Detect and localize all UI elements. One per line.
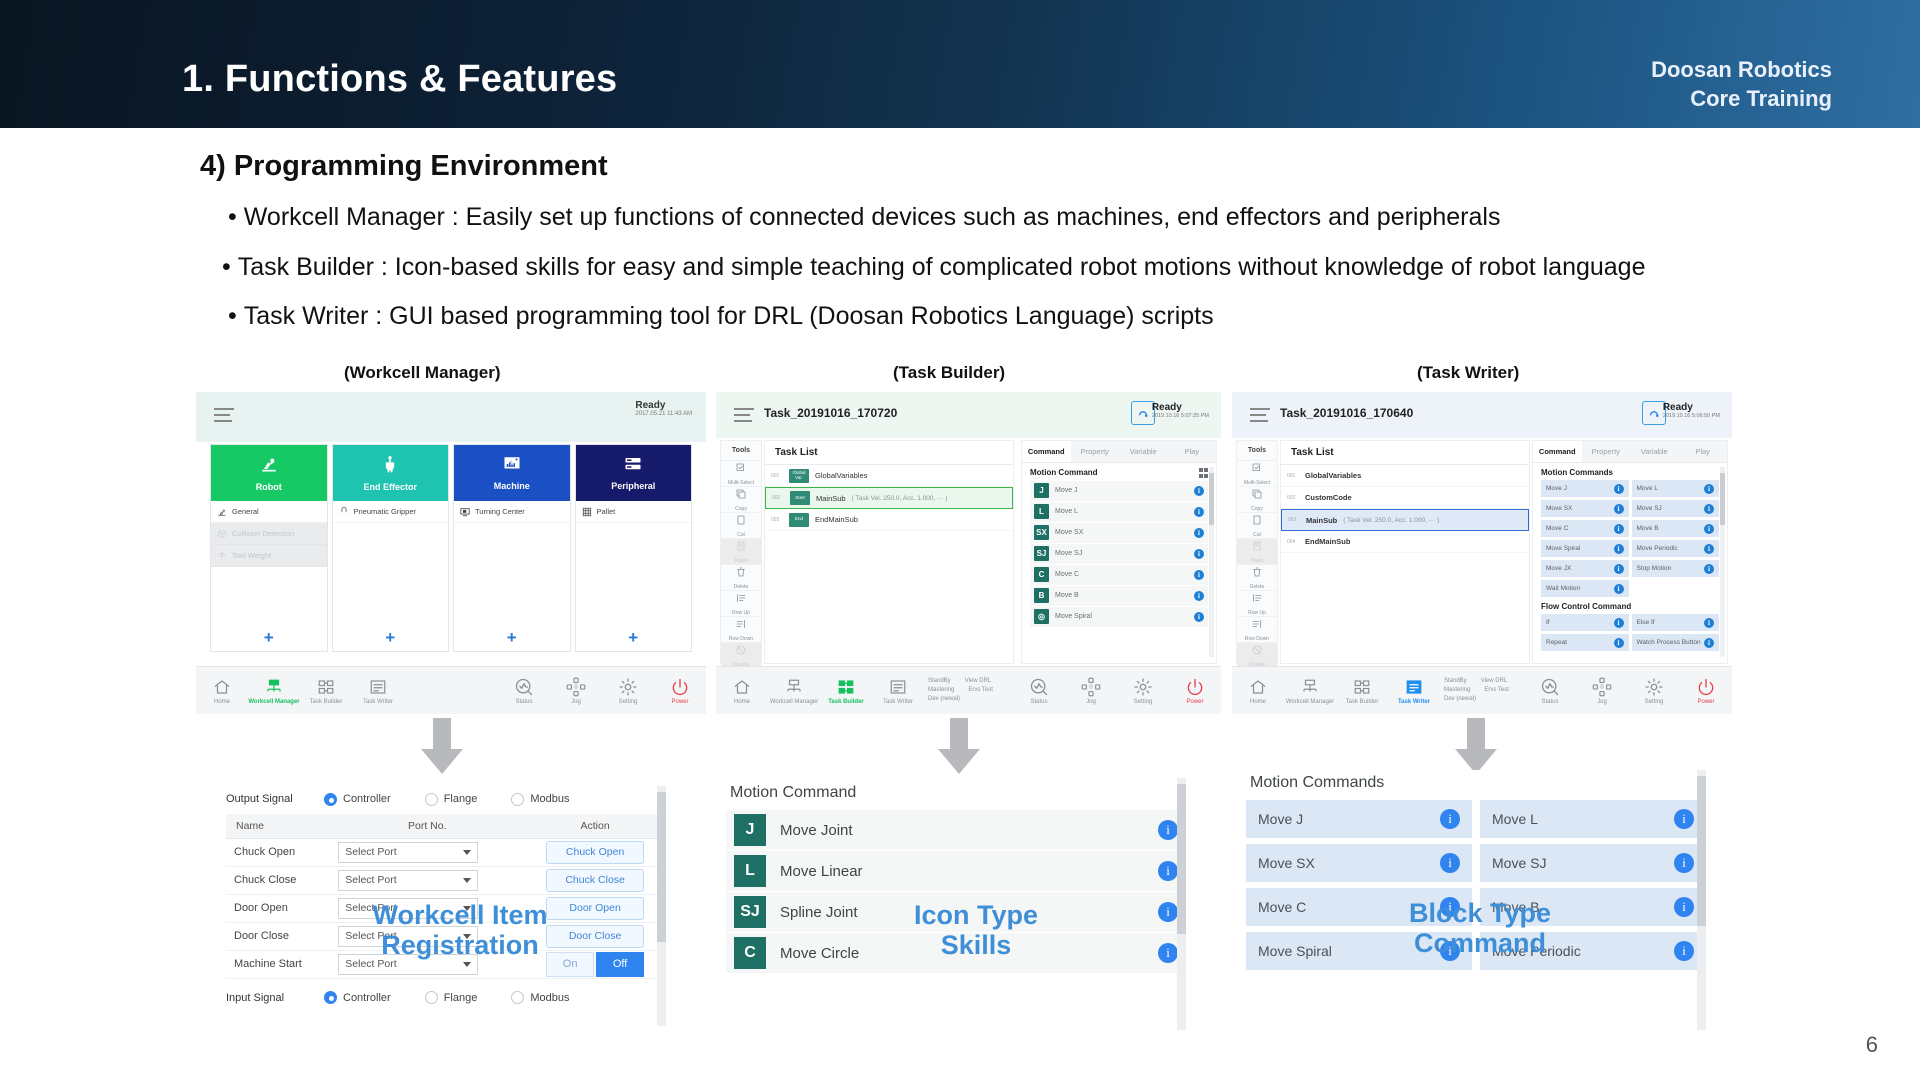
card-header: End Effector xyxy=(333,445,449,501)
radio-flange[interactable]: Flange xyxy=(425,991,478,1004)
wm-card-peripheral[interactable]: Peripheral Pallet + xyxy=(575,444,693,652)
tb-task-list: Task List 001 Global Var. GlobalVariable… xyxy=(764,440,1014,664)
block-command-cell[interactable]: Move C i xyxy=(1541,520,1629,537)
command-glyph-icon: L xyxy=(1034,504,1049,519)
nav-home[interactable]: Home xyxy=(716,677,768,705)
info-icon[interactable]: i xyxy=(1674,941,1694,961)
block-command-cell[interactable]: Move SJ i xyxy=(1480,844,1706,882)
nav-label: Power xyxy=(1697,699,1714,705)
block-command-cell[interactable]: Repeat i xyxy=(1541,634,1629,651)
info-icon[interactable]: i xyxy=(1158,820,1178,840)
tab-play[interactable]: Play xyxy=(1168,441,1217,462)
command-row[interactable]: J Move J i xyxy=(1030,481,1208,501)
status-timestamp: 2017.05.21 11:43 AM xyxy=(635,411,692,417)
block-command-cell[interactable]: Move SJ i xyxy=(1632,500,1720,517)
block-command-cell[interactable]: Move Spiral i xyxy=(1541,540,1629,557)
nav-power[interactable]: Power xyxy=(654,677,706,705)
header-banner: 1. Functions & Features Doosan Robotics … xyxy=(0,0,1920,128)
tw-tools-column: Tools Multi-Select Copy Cut Paste Delete… xyxy=(1236,440,1278,664)
command-row[interactable]: B Move B i xyxy=(1030,586,1208,606)
row-name: Machine Start xyxy=(226,950,330,978)
tab-property[interactable]: Property xyxy=(1071,441,1120,462)
command-row[interactable]: C Move C i xyxy=(1030,565,1208,585)
nav-standby[interactable]: StandBy xyxy=(1444,677,1467,686)
block-command-cell[interactable]: Watch Process Button i xyxy=(1632,634,1720,651)
action-button[interactable]: Chuck Open xyxy=(546,841,644,864)
row-down-icon xyxy=(1251,617,1263,635)
nav-mastering[interactable]: Mastering xyxy=(928,686,954,695)
card-item-label: General xyxy=(232,507,259,516)
port-select[interactable]: Select Port xyxy=(338,842,478,863)
info-icon[interactable]: i xyxy=(1704,564,1714,574)
card-header: Machine xyxy=(454,445,570,501)
block-command-cell[interactable]: Move SX i xyxy=(1246,844,1472,882)
chevron-down-icon xyxy=(463,850,471,855)
add-item-button[interactable]: + xyxy=(211,625,327,651)
row-down-icon xyxy=(735,617,747,635)
tool-label: Cut xyxy=(1253,532,1261,538)
tool-cut[interactable]: Cut xyxy=(1237,513,1277,539)
block-command-cell[interactable]: Move JX i xyxy=(1541,560,1629,577)
info-icon[interactable]: i xyxy=(1440,809,1460,829)
task-builder-icon xyxy=(315,677,337,697)
tool-label: Cut xyxy=(737,532,745,538)
tab-property[interactable]: Property xyxy=(1582,441,1631,462)
row-label: GlobalVariables xyxy=(1305,471,1361,480)
nav-label: Home xyxy=(1250,699,1266,705)
wm-card-robot[interactable]: Robot GeneralCollision DetectionTool Wei… xyxy=(210,444,328,652)
nav-task-builder[interactable]: Task Builder xyxy=(1336,677,1388,705)
block-command-cell[interactable]: Move J i xyxy=(1246,800,1472,838)
block-command-label: Move JX xyxy=(1546,565,1571,572)
block-command-label: Watch Process Button xyxy=(1637,639,1701,646)
tw-navbar: Home Workcell Manager Task Builder Task … xyxy=(1232,666,1732,714)
block-command-cell[interactable]: Move B i xyxy=(1632,520,1720,537)
tab-command[interactable]: Command xyxy=(1533,441,1582,462)
tb-motion-section: Motion Command xyxy=(1022,463,1216,481)
tab-variable[interactable]: Variable xyxy=(1630,441,1679,462)
tb-header: Task_20191016_170720 Ready 2019.10.16 5:… xyxy=(716,392,1221,438)
nav-label: Setting xyxy=(1134,699,1153,705)
disable-icon xyxy=(735,643,747,661)
info-icon[interactable]: i xyxy=(1194,591,1204,601)
page-title: 1. Functions & Features xyxy=(182,58,617,101)
home-icon xyxy=(731,677,753,697)
card-item-label: Collision Detection xyxy=(232,529,294,538)
info-icon[interactable]: i xyxy=(1614,638,1624,648)
block-command-label: Move Spiral xyxy=(1546,545,1580,552)
card-title: Machine xyxy=(494,481,530,491)
tool-delete[interactable]: Delete xyxy=(1237,565,1277,591)
action-button[interactable]: Chuck Close xyxy=(546,869,644,892)
tool-label: Row Up xyxy=(732,610,750,616)
down-arrow-icon-3 xyxy=(1455,718,1497,774)
radio-label: Controller xyxy=(343,793,391,805)
info-icon[interactable]: i xyxy=(1440,853,1460,873)
tab-play[interactable]: Play xyxy=(1679,441,1728,462)
chevron-down-icon xyxy=(463,878,471,883)
screenshot-task-writer: Task_20191016_170640 Ready 2019.10.16 5:… xyxy=(1232,392,1732,714)
tool-multi-select[interactable]: Multi-Select xyxy=(1237,461,1277,487)
tool-cut[interactable]: Cut xyxy=(721,513,761,539)
tool-row-up[interactable]: Row Up xyxy=(1237,591,1277,617)
nav-label: Status xyxy=(515,699,532,705)
jog-icon: 0 xyxy=(1591,677,1613,697)
card-item-label: Pneumatic Gripper xyxy=(354,507,417,516)
tool-label: Paste xyxy=(735,558,748,564)
nav-setting[interactable]: Setting xyxy=(1628,677,1680,705)
skill-label: Move Joint xyxy=(780,822,1144,839)
nav-ervs-test[interactable]: Ervs Test xyxy=(968,686,993,695)
nav-standby[interactable]: StandBy xyxy=(928,677,951,686)
info-icon[interactable]: i xyxy=(1194,507,1204,517)
card-item-row[interactable]: Collision Detection xyxy=(211,523,327,545)
row-number: 003 xyxy=(771,517,783,523)
card-item-label: Pallet xyxy=(597,507,616,516)
nav-power[interactable]: Power xyxy=(1680,677,1732,705)
nav-workcell-manager[interactable]: Workcell Manager xyxy=(1284,677,1336,705)
annotation-line-1: Icon Type xyxy=(876,900,1076,930)
task-name: Task_20191016_170720 xyxy=(764,406,897,420)
tb-navbar: Home Workcell Manager Task Builder Task … xyxy=(716,666,1221,714)
annotation-block-type-command: Block Type Command xyxy=(1370,898,1590,958)
command-label: Move B xyxy=(1055,592,1188,599)
annotation-workcell-item-registration: Workcell Item Registration xyxy=(340,900,580,960)
status-icon xyxy=(1539,677,1561,697)
tool-row-up[interactable]: Row Up xyxy=(721,591,761,617)
weight-icon xyxy=(217,551,227,561)
block-command-cell[interactable]: Stop Motion i xyxy=(1632,560,1720,577)
task-writer-icon xyxy=(1403,677,1425,697)
info-icon[interactable]: i xyxy=(1614,484,1624,494)
nav-status[interactable]: Status xyxy=(1524,677,1576,705)
grid-view-icon[interactable] xyxy=(1199,468,1209,478)
info-icon[interactable]: i xyxy=(1158,902,1178,922)
tab-variable[interactable]: Variable xyxy=(1119,441,1168,462)
tool-copy[interactable]: Copy xyxy=(1237,487,1277,513)
nav-task-builder[interactable]: Task Builder xyxy=(820,677,872,705)
wm-cards: Robot GeneralCollision DetectionTool Wei… xyxy=(210,444,692,652)
radio-label: Flange xyxy=(444,793,478,805)
row-name: Chuck Close xyxy=(226,866,330,894)
nav-jog[interactable]: 0 Jog xyxy=(1065,677,1117,705)
tool-paste[interactable]: Paste xyxy=(1237,539,1277,565)
tw-flow-section: Flow Control Command xyxy=(1533,597,1727,614)
port-select[interactable]: Select Port xyxy=(338,870,478,891)
panel-scrollbar[interactable] xyxy=(1177,778,1186,1030)
block-command-cell[interactable]: If i xyxy=(1541,614,1629,631)
info-icon[interactable]: i xyxy=(1704,504,1714,514)
workcell-icon xyxy=(783,677,805,697)
task-list-header: Task List xyxy=(1281,441,1529,465)
card-item-row[interactable]: General xyxy=(211,501,327,523)
panel-scrollbar[interactable] xyxy=(1697,770,1706,1030)
wm-card-end-effector[interactable]: End Effector Pneumatic Gripper + xyxy=(332,444,450,652)
brand-line-1: Doosan Robotics xyxy=(1651,55,1832,84)
nav-label: Jog xyxy=(571,699,581,705)
radio-modbus[interactable]: Modbus xyxy=(511,991,569,1004)
col-header: Name xyxy=(226,814,330,838)
block-command-cell[interactable]: Wait Motion i xyxy=(1541,580,1629,597)
info-icon[interactable]: i xyxy=(1614,618,1624,628)
status-timestamp: 2019.10.16 5:06:50 PM xyxy=(1663,413,1720,419)
info-icon[interactable]: i xyxy=(1614,564,1624,574)
hamburger-menu-icon[interactable] xyxy=(734,408,754,422)
radio-button xyxy=(425,991,438,1004)
skill-row[interactable]: J Move Joint i xyxy=(726,810,1186,850)
task-row[interactable]: 001 GlobalVariables xyxy=(1281,465,1529,487)
row-label: EndMainSub xyxy=(815,515,858,524)
task-row[interactable]: 004 EndMainSub xyxy=(1281,531,1529,553)
add-item-button[interactable]: + xyxy=(576,625,692,651)
task-row[interactable]: 001 Global Var. GlobalVariables xyxy=(765,465,1013,487)
nav-power[interactable]: Power xyxy=(1169,677,1221,705)
nav-dev[interactable]: Dev (newal) xyxy=(1444,695,1476,704)
nav-jog[interactable]: 0 Jog xyxy=(550,677,602,705)
scrollbar[interactable] xyxy=(1720,467,1725,657)
card-item-list: Turning Center xyxy=(454,501,570,625)
card-header: Peripheral xyxy=(576,445,692,501)
tool-label: Row Down xyxy=(1245,636,1269,642)
nav-label: Status xyxy=(1030,699,1047,705)
caption-task-builder: (Task Builder) xyxy=(893,363,1005,383)
power-icon xyxy=(1184,677,1206,697)
card-item-row[interactable]: Pneumatic Gripper xyxy=(333,501,449,523)
gripper-icon xyxy=(380,454,400,479)
info-icon[interactable]: i xyxy=(1614,544,1624,554)
nav-workcell-manager[interactable]: Workcell Manager xyxy=(248,677,300,705)
info-icon[interactable]: i xyxy=(1704,484,1714,494)
home-icon xyxy=(211,677,233,697)
command-label: Move L xyxy=(1055,508,1188,515)
tw-status: Ready 2019.10.16 5:06:50 PM xyxy=(1663,402,1720,419)
nav-view-drl[interactable]: View DRL xyxy=(1481,677,1508,686)
row-name: Door Open xyxy=(226,894,330,922)
nav-view-drl[interactable]: View DRL xyxy=(965,677,992,686)
tool-multi-select[interactable]: Multi-Select xyxy=(721,461,761,487)
nav-setting[interactable]: Setting xyxy=(602,677,654,705)
nav-ervs-test[interactable]: Ervs Test xyxy=(1484,686,1509,695)
workcell-icon xyxy=(263,677,285,697)
row-number: 002 xyxy=(1287,495,1299,501)
row-chip: Start xyxy=(790,491,810,505)
off-button[interactable]: Off xyxy=(596,952,644,977)
block-command-cell[interactable]: Move Periodic i xyxy=(1632,540,1720,557)
command-row[interactable]: SJ Move SJ i xyxy=(1030,544,1208,564)
tb-status: Ready 2019.10.16 5:07:25 PM xyxy=(1152,402,1209,419)
tool-delete[interactable]: Delete xyxy=(721,565,761,591)
row-chip: End xyxy=(789,513,809,527)
card-item-row[interactable]: Turning Center xyxy=(454,501,570,523)
row-number: 001 xyxy=(771,473,783,479)
annotation-line-2: Registration xyxy=(340,930,580,960)
info-icon[interactable]: i xyxy=(1194,528,1204,538)
tool-label: Copy xyxy=(1251,506,1263,512)
bullet-task-builder: •Task Builder : Icon-based skills for ea… xyxy=(222,253,1646,282)
info-icon[interactable]: i xyxy=(1194,549,1204,559)
bullet-text: Task Builder : Icon-based skills for eas… xyxy=(238,253,1646,281)
nav-status[interactable]: Status xyxy=(498,677,550,705)
card-item-row[interactable]: Tool Weight xyxy=(211,545,327,567)
info-icon[interactable]: i xyxy=(1674,809,1694,829)
command-row[interactable]: L Move L i xyxy=(1030,502,1208,522)
tool-copy[interactable]: Copy xyxy=(721,487,761,513)
card-item-row[interactable]: Pallet xyxy=(576,501,692,523)
command-row[interactable]: SX Move SX i xyxy=(1030,523,1208,543)
command-glyph-icon: ◎ xyxy=(1034,609,1049,624)
task-row[interactable]: 003 MainSub ( Task Vel. 250.0, Acc. 1.00… xyxy=(1281,509,1529,531)
nav-workcell-manager[interactable]: Workcell Manager xyxy=(768,677,820,705)
nav-label: Task Builder xyxy=(310,699,343,705)
block-command-cell[interactable]: Move SX i xyxy=(1541,500,1629,517)
block-command-label: Move Spiral xyxy=(1258,943,1332,959)
task-builder-icon xyxy=(1351,677,1373,697)
info-icon[interactable]: i xyxy=(1704,544,1714,554)
nav-label: Workcell Manager xyxy=(770,699,818,705)
task-writer-icon xyxy=(887,677,909,697)
row-name: Door Close xyxy=(226,922,330,950)
info-icon[interactable]: i xyxy=(1194,612,1204,622)
gear-icon xyxy=(617,677,639,697)
tool-paste[interactable]: Paste xyxy=(721,539,761,565)
disable-icon xyxy=(1251,643,1263,661)
jog-icon: 0 xyxy=(1080,677,1102,697)
command-row[interactable]: ◎ Move Spiral i xyxy=(1030,607,1208,627)
row-meta: ( Task Vel. 250.0, Acc. 1.000, ··· ) xyxy=(1343,517,1439,524)
command-glyph-icon: SJ xyxy=(1034,546,1049,561)
add-item-button[interactable]: + xyxy=(454,625,570,651)
info-icon[interactable]: i xyxy=(1194,570,1204,580)
command-glyph-icon: B xyxy=(1034,588,1049,603)
power-icon xyxy=(1695,677,1717,697)
nav-task-writer[interactable]: Task Writer xyxy=(352,677,404,705)
wm-status: Ready 2017.05.21 11:43 AM xyxy=(635,400,692,417)
card-item-list: Pallet xyxy=(576,501,692,625)
radio-button xyxy=(324,991,337,1004)
nav-label: Workcell Manager xyxy=(248,699,299,705)
tool-label: Delete xyxy=(1250,584,1264,590)
tw-motion-grid: Move J i Move L i Move SX i Move SJ i Mo… xyxy=(1533,480,1727,597)
nav-mastering[interactable]: Mastering xyxy=(1444,686,1470,695)
block-command-cell[interactable]: Move J i xyxy=(1541,480,1629,497)
info-icon[interactable]: i xyxy=(1704,524,1714,534)
motion-section-label: Motion Commands xyxy=(1541,468,1613,477)
info-icon[interactable]: i xyxy=(1194,486,1204,496)
status-label: Ready xyxy=(1152,402,1209,413)
nav-label: Workcell Manager xyxy=(1286,699,1334,705)
info-icon[interactable]: i xyxy=(1614,504,1624,514)
row-label: EndMainSub xyxy=(1305,537,1350,546)
row-label: MainSub xyxy=(816,494,846,503)
status-icon xyxy=(1028,677,1050,697)
radio-controller[interactable]: Controller xyxy=(324,793,391,806)
info-icon[interactable]: i xyxy=(1614,584,1624,594)
annotation-line-1: Block Type xyxy=(1370,898,1590,928)
nav-home[interactable]: Home xyxy=(1232,677,1284,705)
tool-row-down[interactable]: Row Down xyxy=(721,617,761,643)
info-icon[interactable]: i xyxy=(1674,853,1694,873)
info-icon[interactable]: i xyxy=(1704,638,1714,648)
task-name: Task_20191016_170640 xyxy=(1280,406,1413,420)
scrollbar[interactable] xyxy=(1209,467,1214,657)
skill-row[interactable]: L Move Linear i xyxy=(726,851,1186,891)
task-row[interactable]: 002 Start MainSub ( Task Vel. 250.0, Acc… xyxy=(765,487,1013,509)
power-icon xyxy=(669,677,691,697)
block-command-cell[interactable]: Move L i xyxy=(1480,800,1706,838)
info-icon[interactable]: i xyxy=(1614,524,1624,534)
radio-modbus[interactable]: Modbus xyxy=(511,793,569,806)
tw-motion-section: Motion Commands xyxy=(1533,463,1727,480)
section-title: 4) Programming Environment xyxy=(200,150,608,183)
skill-label: Move Linear xyxy=(780,863,1144,880)
status-label: Ready xyxy=(635,400,692,411)
tool-row-down[interactable]: Row Down xyxy=(1237,617,1277,643)
block-command-cell[interactable]: Move L i xyxy=(1632,480,1720,497)
task-row[interactable]: 003 End EndMainSub xyxy=(765,509,1013,531)
tools-header: Tools xyxy=(721,441,761,461)
tool-label: Paste xyxy=(1251,558,1264,564)
card-header: Robot xyxy=(211,445,327,501)
info-icon[interactable]: i xyxy=(1704,618,1714,628)
workcell-icon xyxy=(1299,677,1321,697)
chevron-down-icon xyxy=(463,962,471,967)
nav-status[interactable]: Status xyxy=(1013,677,1065,705)
info-icon[interactable]: i xyxy=(1158,943,1178,963)
gear-icon xyxy=(1132,677,1154,697)
add-item-button[interactable]: + xyxy=(333,625,449,651)
row-label: GlobalVariables xyxy=(815,471,867,480)
radio-label: Flange xyxy=(444,992,478,1004)
task-builder-icon xyxy=(835,677,857,697)
hamburger-menu-icon[interactable] xyxy=(214,408,234,422)
status-label: Ready xyxy=(1663,402,1720,413)
nav-home[interactable]: Home xyxy=(196,677,248,705)
jog-icon: 0 xyxy=(565,677,587,697)
panel3-header: Motion Commands xyxy=(1246,770,1706,800)
block-command-cell[interactable]: Else If i xyxy=(1632,614,1720,631)
multi-select-icon xyxy=(1251,461,1263,479)
card-title: End Effector xyxy=(363,482,417,492)
block-command-label: Move SX xyxy=(1546,505,1572,512)
nav-setting[interactable]: Setting xyxy=(1117,677,1169,705)
block-command-label: Move Periodic xyxy=(1637,545,1678,552)
tw-tabs: CommandPropertyVariablePlay xyxy=(1533,441,1727,463)
block-command-label: Move SJ xyxy=(1492,855,1546,871)
nav-jog[interactable]: 0 Jog xyxy=(1576,677,1628,705)
radio-controller[interactable]: Controller xyxy=(324,991,391,1004)
nav-task-writer[interactable]: Task Writer xyxy=(1388,677,1440,705)
nav-label: Task Writer xyxy=(1398,699,1430,705)
task-row[interactable]: 002 CustomCode xyxy=(1281,487,1529,509)
nav-label: Power xyxy=(671,699,688,705)
tb-tools-column: Tools Multi-Select Copy Cut Paste Delete… xyxy=(720,440,762,664)
panel-scrollbar[interactable] xyxy=(657,786,666,1026)
info-icon[interactable]: i xyxy=(1158,861,1178,881)
screenshot-task-builder: Task_20191016_170720 Ready 2019.10.16 5:… xyxy=(716,392,1221,714)
wm-card-machine[interactable]: Machine Turning Center + xyxy=(453,444,571,652)
nav-label: Home xyxy=(734,699,750,705)
cut-icon xyxy=(735,513,747,531)
radio-flange[interactable]: Flange xyxy=(425,793,478,806)
tab-command[interactable]: Command xyxy=(1022,441,1071,462)
nav-task-writer[interactable]: Task Writer xyxy=(872,677,924,705)
info-icon[interactable]: i xyxy=(1674,897,1694,917)
down-arrow-icon-2 xyxy=(938,718,980,774)
hamburger-menu-icon[interactable] xyxy=(1250,408,1270,422)
nav-dev[interactable]: Dev (newal) xyxy=(928,695,960,704)
nav-task-builder[interactable]: Task Builder xyxy=(300,677,352,705)
row-number: 004 xyxy=(1287,539,1299,545)
